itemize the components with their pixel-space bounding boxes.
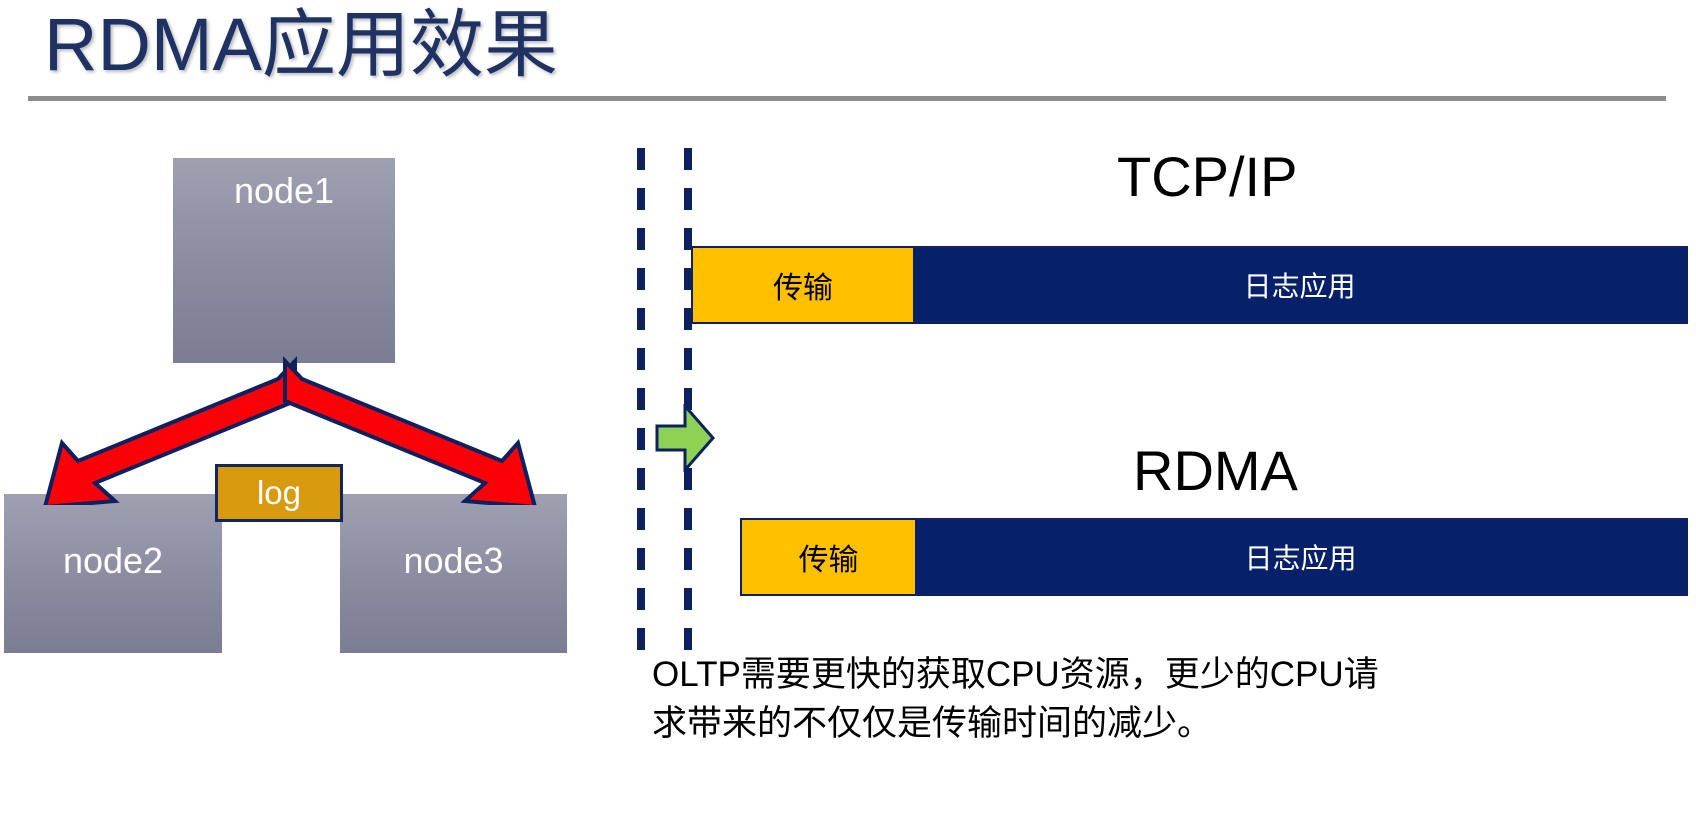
node-label: node1 bbox=[173, 158, 395, 212]
node-box-node1: node1 bbox=[173, 158, 395, 363]
caption-line-2: 求带来的不仅仅是传输时间的减少。 bbox=[652, 699, 1672, 748]
caption-text: OLTP需要更快的获取CPU资源，更少的CPU请 求带来的不仅仅是传输时间的减少… bbox=[652, 650, 1672, 748]
page-title: RDMA应用效果 bbox=[44, 2, 558, 88]
green-improvement-arrow-icon bbox=[655, 404, 715, 472]
bar-segment-log-application: 日志应用 bbox=[913, 248, 1686, 322]
timeline-guide-start bbox=[637, 148, 645, 653]
caption-line-1: OLTP需要更快的获取CPU资源，更少的CPU请 bbox=[652, 650, 1672, 699]
node-box-node2: node2 bbox=[4, 494, 222, 653]
bar-tcpip: 传输 日志应用 bbox=[691, 246, 1688, 324]
protocol-title-tcpip: TCP/IP bbox=[1117, 146, 1297, 208]
bar-segment-log-application: 日志应用 bbox=[915, 520, 1686, 594]
bar-segment-transfer: 传输 bbox=[693, 248, 913, 322]
node-label: node2 bbox=[4, 494, 222, 582]
protocol-title-rdma: RDMA bbox=[1133, 440, 1298, 502]
timeline-guide-offset bbox=[684, 148, 692, 653]
node-box-node3: node3 bbox=[340, 494, 567, 653]
log-box: log bbox=[215, 464, 343, 522]
bar-segment-transfer: 传输 bbox=[742, 520, 915, 594]
log-box-label: log bbox=[257, 474, 301, 511]
slide-canvas: RDMA应用效果 node1 node2 node3 log TCP/IP 传输… bbox=[0, 0, 1696, 826]
title-divider bbox=[28, 96, 1666, 101]
node-label: node3 bbox=[340, 494, 567, 582]
bar-rdma: 传输 日志应用 bbox=[740, 518, 1688, 596]
